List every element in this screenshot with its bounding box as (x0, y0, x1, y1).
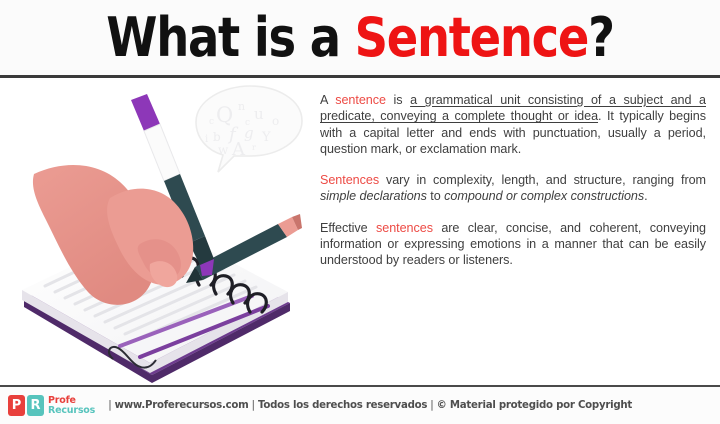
page-title-plain: What is a (106, 6, 354, 69)
p2-tail: . (644, 189, 647, 203)
paragraph-variety: Sentences vary in complexity, length, an… (320, 172, 706, 205)
svg-text:b: b (213, 130, 221, 144)
footer-rights: Todos los derechos reservados (258, 400, 427, 411)
speech-bubble-icon: c Q n c u o i b f g Y w A r (196, 86, 302, 172)
illustration-column: c Q n c u o i b f g Y w A r (0, 78, 312, 385)
svg-text:A: A (231, 139, 246, 160)
svg-text:n: n (238, 100, 245, 113)
p1-lead: A (320, 93, 335, 107)
footer-separator-2: | (249, 400, 258, 411)
footer-separator-3: | (427, 400, 436, 411)
logo-tile-r: R (27, 395, 44, 416)
p2-mid: to (427, 189, 444, 203)
p2-italic-compound: compound or complex constructions (444, 189, 644, 203)
brand-logo[interactable]: P R Profe Recursos (8, 395, 95, 416)
svg-text:c: c (209, 117, 214, 127)
svg-text:u: u (254, 105, 264, 123)
paragraph-definition: A sentence is a grammatical unit consist… (320, 92, 706, 157)
hand-writing-in-notebook-illustration: c Q n c u o i b f g Y w A r (0, 78, 312, 385)
infographic-root: What is a Sentence? (0, 0, 720, 424)
page-title: What is a Sentence? (106, 11, 613, 65)
p1-keyword: sentence (335, 93, 386, 107)
header-banner: What is a Sentence? (0, 0, 720, 78)
svg-text:r: r (252, 143, 256, 152)
svg-text:g: g (244, 124, 254, 142)
logo-wordmark: Profe Recursos (48, 396, 95, 415)
definition-text-column: A sentence is a grammatical unit consist… (312, 78, 720, 385)
paragraph-effectiveness: Effective sentences are clear, concise, … (320, 220, 706, 269)
p3-lead: Effective (320, 221, 376, 235)
svg-text:o: o (272, 114, 279, 128)
page-title-suffix: ? (588, 6, 614, 69)
svg-text:w: w (218, 143, 229, 157)
footer-copyright: © Material protegido por Copyright (437, 400, 632, 411)
footer-legal-text: |www.Proferecursos.com|Todos los derecho… (105, 400, 632, 411)
logo-word-recursos: Recursos (48, 406, 95, 416)
svg-text:Y: Y (261, 130, 271, 145)
p2-keyword: Sentences (320, 173, 379, 187)
page-title-accent: Sentence (355, 6, 588, 69)
svg-text:i: i (205, 134, 208, 145)
p2-italic-simple: simple declarations (320, 189, 427, 203)
p3-keyword: sentences (376, 221, 433, 235)
logo-tile-p: P (8, 395, 25, 416)
p1-verb: is (386, 93, 410, 107)
body-area: c Q n c u o i b f g Y w A r (0, 78, 720, 385)
footer-bar: P R Profe Recursos |www.Proferecursos.co… (0, 385, 720, 424)
logo-tiles: P R (8, 395, 44, 416)
p2-lead: vary in complexity, length, and structur… (379, 173, 706, 187)
footer-website-link[interactable]: www.Proferecursos.com (115, 400, 249, 411)
footer-separator-1: | (105, 400, 114, 411)
